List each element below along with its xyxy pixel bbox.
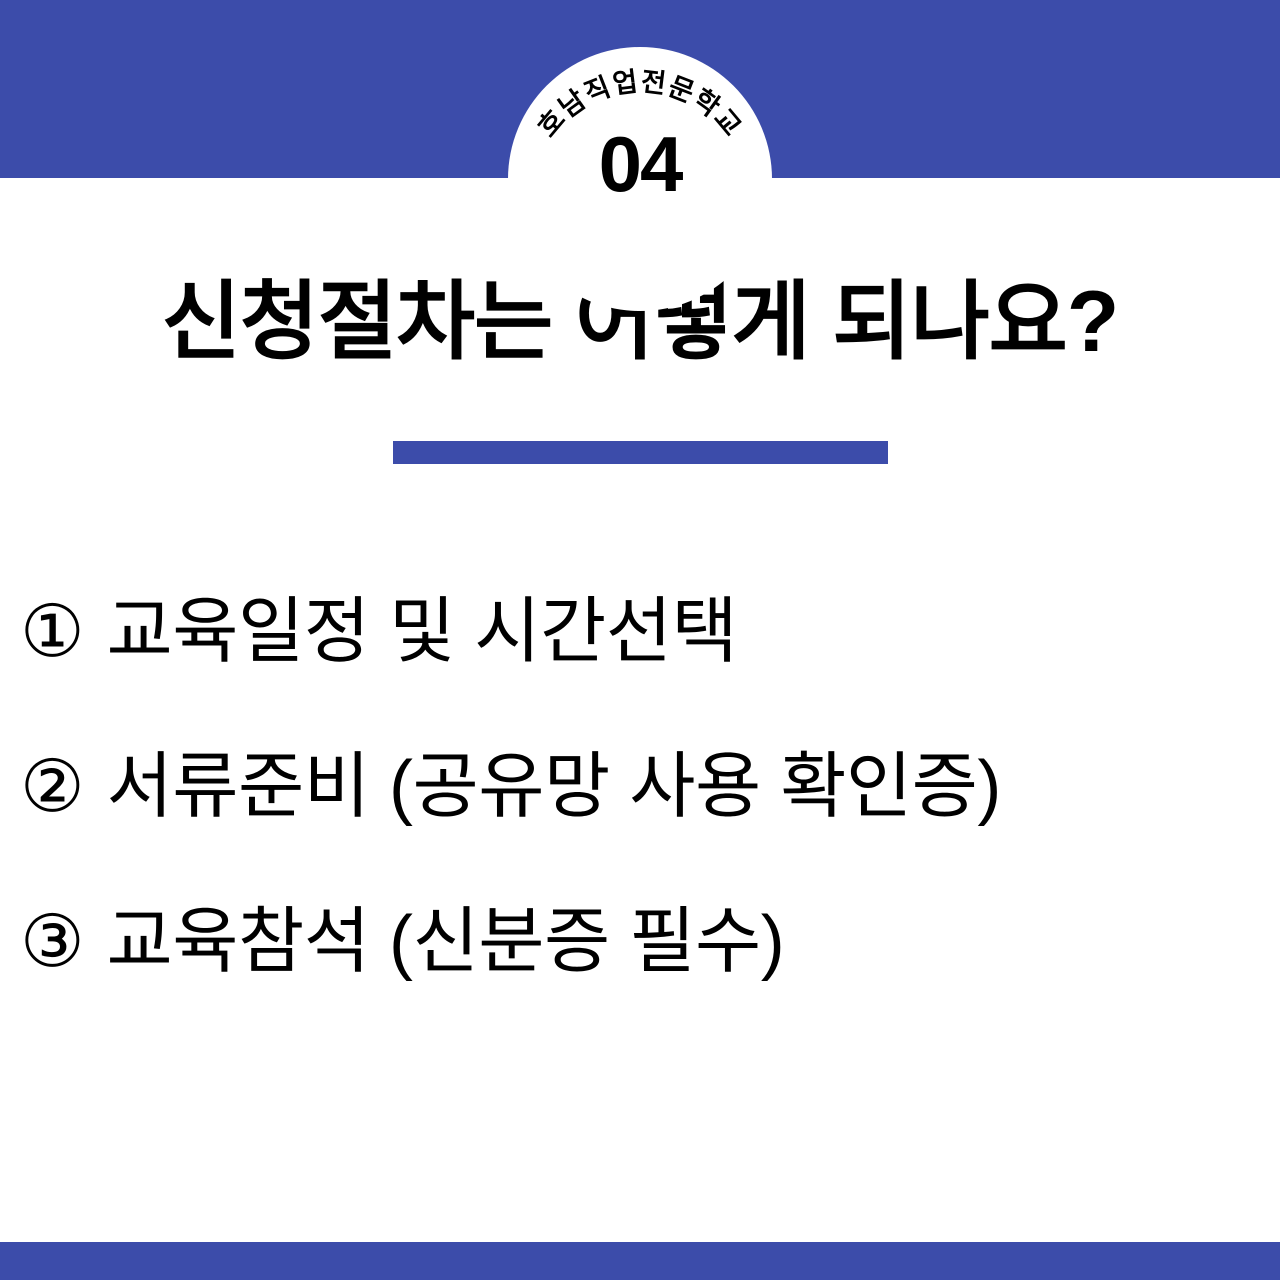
step-text-3: 교육참석 (신분증 필수): [107, 906, 785, 978]
list-item: ① 교육일정 및 시간선택: [20, 596, 1260, 751]
step-text-1: 교육일정 및 시간선택: [107, 596, 738, 668]
step-text-2: 서류준비 (공유망 사용 확인증): [107, 751, 1001, 823]
steps-list: ① 교육일정 및 시간선택 ② 서류준비 (공유망 사용 확인증) ③ 교육참석…: [20, 596, 1260, 1061]
section-number: 04: [508, 125, 772, 203]
slide-canvas: 호남직업전문학교 04 신청절차는 어떻게 되나요? ① 교육일정 및 시간선택…: [0, 0, 1280, 1280]
step-marker-2: ②: [20, 751, 85, 823]
list-item: ② 서류준비 (공유망 사용 확인증): [20, 751, 1260, 906]
section-badge: 호남직업전문학교 04: [508, 47, 772, 311]
list-item: ③ 교육참석 (신분증 필수): [20, 906, 1260, 1061]
title-underline-rule: [393, 441, 888, 464]
step-marker-3: ③: [20, 906, 85, 978]
bottom-blue-band: [0, 1242, 1280, 1280]
step-marker-1: ①: [20, 596, 85, 668]
